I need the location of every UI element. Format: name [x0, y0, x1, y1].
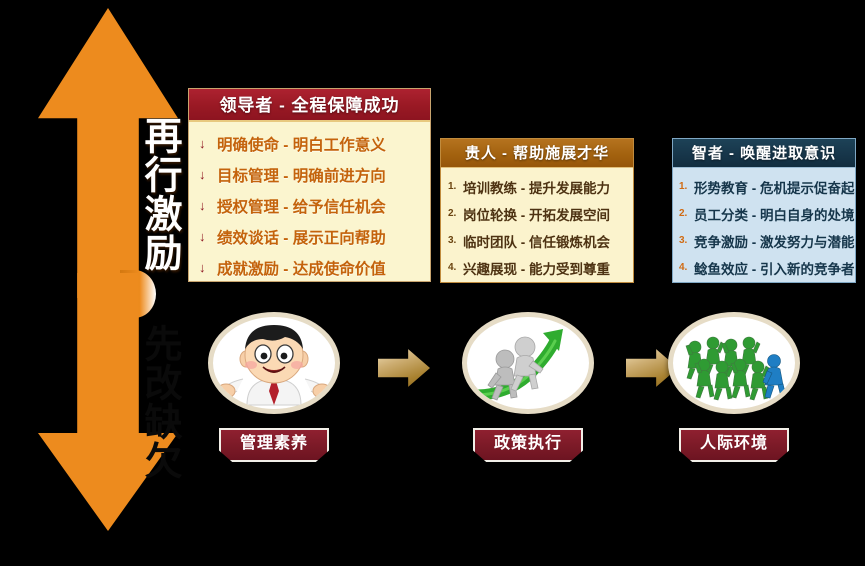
- list-item-label: 授权管理 - 给予信任机会: [217, 195, 386, 217]
- stage-relations-label: 人际环境: [679, 428, 789, 462]
- list-number-marker: 1.: [679, 181, 694, 192]
- panel-benefactor-list: 1. 培训教练 - 提升发展能力 2. 岗位轮换 - 开拓发展空间 3. 临时团…: [441, 168, 633, 281]
- stage-policy-label: 政策执行: [473, 428, 583, 462]
- list-item: 3. 竞争激励 - 激发努力与潜能: [679, 227, 855, 254]
- cycle-arrows-group: 再行激励 先改缺欠: [28, 8, 188, 528]
- list-number-marker: 4.: [679, 262, 694, 273]
- list-item-label: 竞争激励 - 激发努力与潜能: [694, 231, 855, 251]
- up-arrow-container: 再行激励: [38, 8, 178, 298]
- list-item-label: 明确使命 - 明白工作意义: [217, 133, 386, 155]
- list-item-label: 成就激励 - 达成使命价值: [217, 257, 386, 279]
- panel-leader-list: ↓ 明确使命 - 明白工作意义 ↓ 目标管理 - 明确前进方向 ↓ 授权管理 -…: [189, 122, 430, 283]
- list-item: 2. 员工分类 - 明白自身的处境: [679, 200, 855, 227]
- arrow-down-bullet-icon: ↓: [199, 167, 217, 182]
- arrow-down-bullet-icon: ↓: [199, 260, 217, 275]
- panel-benefactor: 贵人 - 帮助施展才华 1. 培训教练 - 提升发展能力 2. 岗位轮换 - 开…: [440, 138, 634, 283]
- list-item-label: 临时团队 - 信任锻炼机会: [463, 231, 610, 251]
- arrow-down-bullet-icon: ↓: [199, 198, 217, 213]
- list-item: ↓ 成就激励 - 达成使命价值: [199, 252, 430, 283]
- panel-leader: 领导者 - 全程保障成功 ↓ 明确使命 - 明白工作意义 ↓ 目标管理 - 明确…: [188, 88, 431, 282]
- list-item: 4. 兴趣展现 - 能力受到尊重: [448, 254, 633, 281]
- list-item-label: 目标管理 - 明确前进方向: [217, 164, 386, 186]
- panel-sage-list: 1. 形势教育 - 危机提示促奋起 2. 员工分类 - 明白自身的处境 3. 竞…: [673, 168, 855, 281]
- stage-management-label: 管理素养: [219, 428, 329, 462]
- list-number-marker: 3.: [448, 235, 463, 246]
- panel-benefactor-title: 贵人 - 帮助施展才华: [441, 139, 633, 168]
- list-item: 3. 临时团队 - 信任锻炼机会: [448, 227, 633, 254]
- stage-policy: 政策执行: [462, 312, 594, 462]
- list-item: 4. 鲶鱼效应 - 引入新的竞争者: [679, 254, 855, 281]
- list-number-marker: 4.: [448, 262, 463, 273]
- list-item-label: 绩效谈话 - 展示正向帮助: [217, 226, 386, 248]
- list-item: ↓ 绩效谈话 - 展示正向帮助: [199, 221, 430, 252]
- arrow-down-bullet-icon: ↓: [199, 136, 217, 151]
- arrow-down-bullet-icon: ↓: [199, 229, 217, 244]
- cartoon-manager-illustration: [208, 312, 340, 414]
- list-item-label: 员工分类 - 明白自身的处境: [694, 204, 855, 224]
- list-item-label: 岗位轮换 - 开拓发展空间: [463, 204, 610, 224]
- list-number-marker: 2.: [448, 208, 463, 219]
- list-item: 1. 形势教育 - 危机提示促奋起: [679, 173, 855, 200]
- list-item: ↓ 明确使命 - 明白工作意义: [199, 128, 430, 159]
- down-arrow-container: 先改缺欠: [38, 273, 178, 533]
- up-arrow-label: 再行激励: [38, 104, 178, 284]
- figures-climbing-green-arrow-illustration: [462, 312, 594, 414]
- stage-management: 管理素养: [208, 312, 340, 462]
- stage-relations: 人际环境: [668, 312, 800, 462]
- panel-sage: 智者 - 唤醒进取意识 1. 形势教育 - 危机提示促奋起 2. 员工分类 - …: [672, 138, 856, 283]
- list-item-label: 兴趣展现 - 能力受到尊重: [463, 258, 610, 278]
- list-number-marker: 2.: [679, 208, 694, 219]
- green-crowd-figures-illustration: [668, 312, 800, 414]
- list-item: 2. 岗位轮换 - 开拓发展空间: [448, 200, 633, 227]
- list-item-label: 鲶鱼效应 - 引入新的竞争者: [694, 258, 855, 278]
- list-item-label: 培训教练 - 提升发展能力: [463, 177, 610, 197]
- list-item-label: 形势教育 - 危机提示促奋起: [694, 177, 855, 197]
- list-item: 1. 培训教练 - 提升发展能力: [448, 173, 633, 200]
- list-number-marker: 1.: [448, 181, 463, 192]
- arrow-right-icon-management-to-policy: [378, 347, 430, 389]
- list-item: ↓ 目标管理 - 明确前进方向: [199, 159, 430, 190]
- list-item: ↓ 授权管理 - 给予信任机会: [199, 190, 430, 221]
- panel-leader-title: 领导者 - 全程保障成功: [189, 89, 430, 122]
- panel-sage-title: 智者 - 唤醒进取意识: [673, 139, 855, 168]
- list-number-marker: 3.: [679, 235, 694, 246]
- down-arrow-label: 先改缺欠: [38, 309, 178, 494]
